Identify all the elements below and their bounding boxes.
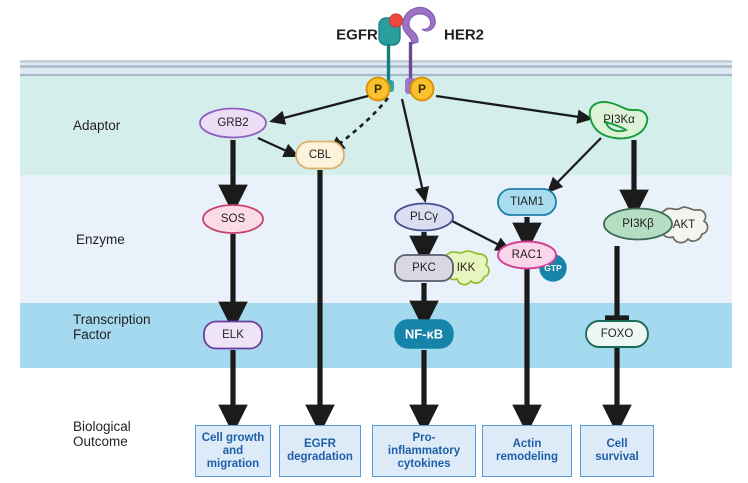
phospho-group-left bbox=[367, 78, 390, 101]
node-foxo[interactable] bbox=[586, 321, 648, 347]
node-nfkb[interactable] bbox=[395, 320, 453, 348]
outcome-cell-survival[interactable]: Cell survival bbox=[580, 425, 654, 477]
band-label-transcription-factor: Transcription Factor bbox=[73, 312, 151, 342]
outcome-egfr-degradation[interactable]: EGFR degradation bbox=[279, 425, 361, 477]
node-rac1[interactable] bbox=[498, 242, 556, 269]
outcome-actin-remodeling[interactable]: Actin remodeling bbox=[482, 425, 572, 477]
band-label-adaptor: Adaptor bbox=[73, 118, 120, 133]
outcome-cell-growth[interactable]: Cell growth and migration bbox=[195, 425, 271, 477]
node-tiam1[interactable] bbox=[498, 189, 556, 215]
outcome-cytokines[interactable]: Pro- inflammatory cytokines bbox=[372, 425, 476, 477]
cell-membrane bbox=[20, 60, 732, 76]
node-cbl[interactable] bbox=[296, 142, 344, 169]
band-label-enzyme: Enzyme bbox=[76, 232, 125, 247]
receptor-label-egfr: EGFR bbox=[336, 27, 378, 44]
node-sos[interactable] bbox=[203, 205, 263, 233]
node-plcg[interactable] bbox=[395, 204, 453, 231]
node-pkc[interactable] bbox=[395, 255, 453, 281]
node-grb2[interactable] bbox=[200, 109, 266, 138]
node-elk[interactable] bbox=[204, 322, 262, 349]
ligand-dot-icon bbox=[390, 14, 403, 27]
node-pi3kb[interactable] bbox=[604, 209, 672, 240]
pathway-diagram: EGFR HER2 P P Adaptor Enzyme Transcripti… bbox=[0, 0, 748, 483]
band-label-biological-outcome: Biological Outcome bbox=[73, 419, 131, 449]
receptor-label-her2: HER2 bbox=[444, 27, 484, 44]
phospho-group-right bbox=[411, 78, 434, 101]
